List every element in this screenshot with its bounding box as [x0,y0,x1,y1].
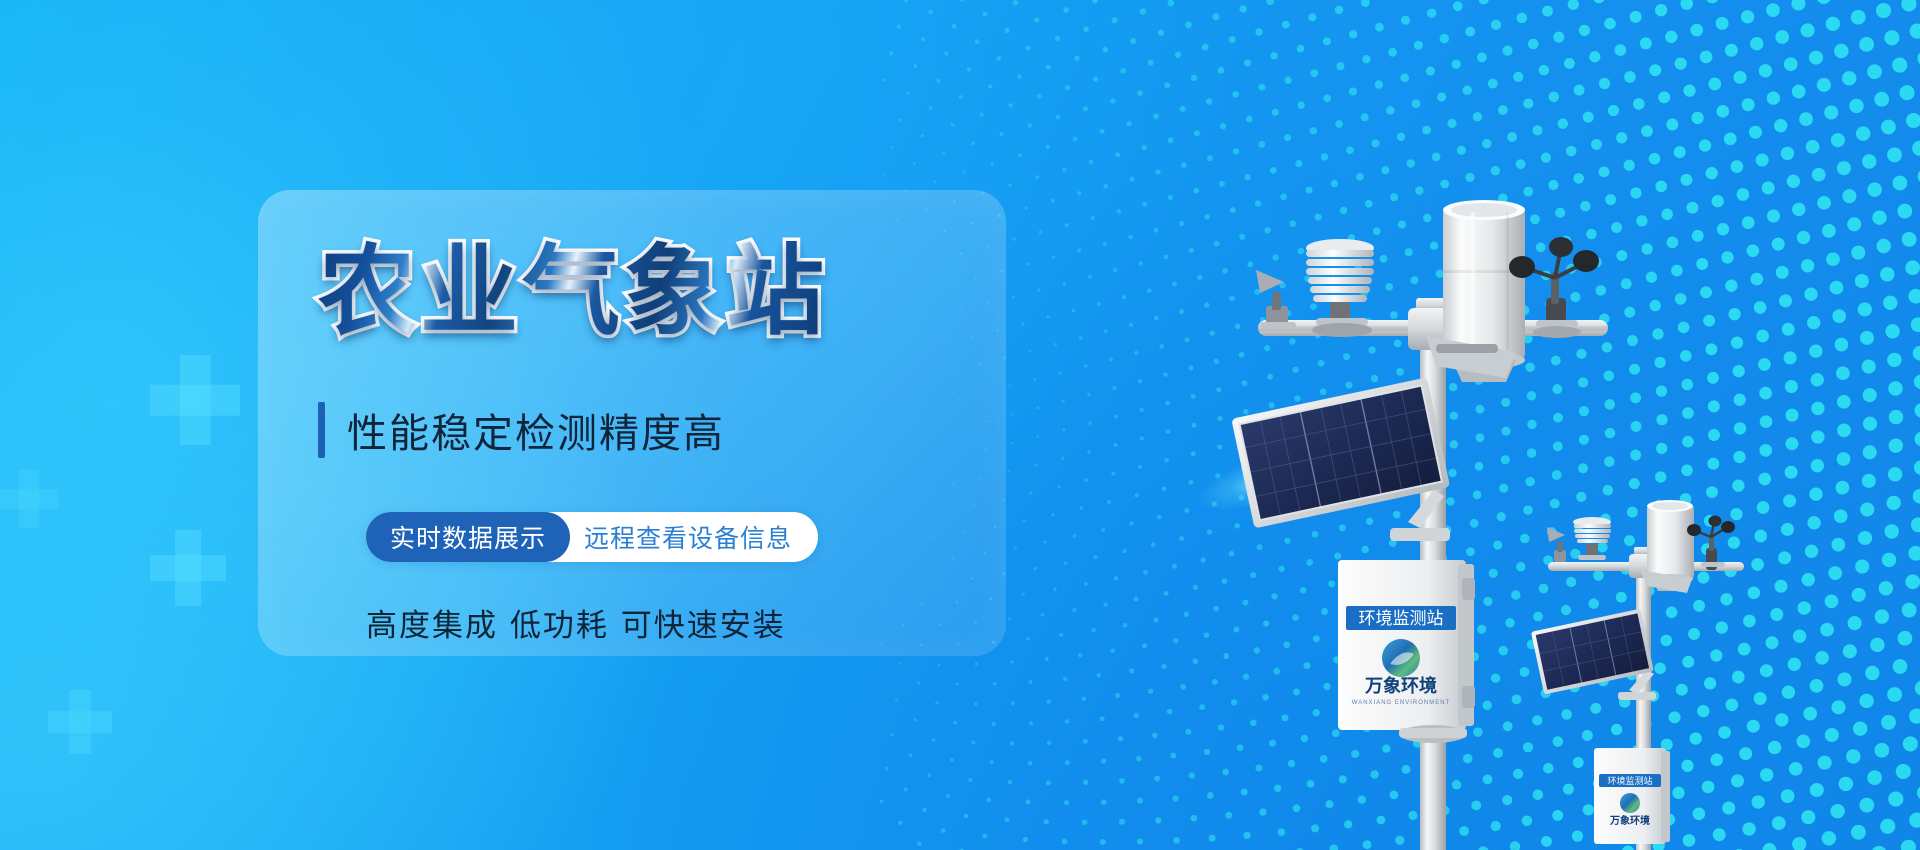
decor-plus-icon-3 [48,690,112,754]
cabinet-brand-text: 万象环境 [1364,675,1437,697]
solar-panel-small [1531,609,1656,700]
cabinet-banner-text-small: 环境监测站 [1607,775,1652,787]
anemometer-sensor-small [1687,516,1735,571]
control-cabinet-small: 环境监测站 万象环境 [1594,748,1670,844]
page-title-text: 农业气象站 [318,236,828,348]
page-title: 农业气象站 农业气象站 [318,236,958,356]
pill-realtime-data[interactable]: 实时数据展示 [366,512,570,562]
decor-plus-icon-4 [0,470,58,528]
hero-subtitle: 性能稳定检测精度高 [318,398,725,462]
wind-vane-sensor-left-small [1547,527,1566,562]
radiation-shield-sensor-small [1573,517,1611,560]
subtitle-accent-bar [318,402,325,458]
feature-list-text: 高度集成 低功耗 可快速安装 [366,600,786,645]
cabinet-brand-text-small: 万象环境 [1609,814,1650,827]
solar-panel [1231,377,1450,541]
decor-plus-icon-2 [150,530,226,606]
decor-plus-icon-1 [150,355,240,445]
hero-banner: 农业气象站 农业气象站 性能稳定检测精度高 实时数据展示 远程查看设备信息 高度… [0,0,1920,850]
radiation-shield-sensor [1306,239,1374,337]
control-cabinet: 环境监测站 万象环境 WANXIANG ENVIRONMENT [1338,560,1475,743]
cabinet-brand-sub: WANXIANG ENVIRONMENT [1352,700,1450,706]
feature-pill-group: 实时数据展示 远程查看设备信息 [366,512,818,562]
pill-remote-view[interactable]: 远程查看设备信息 [570,512,818,562]
cabinet-banner-text: 环境监测站 [1359,609,1444,629]
secondary-weather-station-image: 环境监测站 万象环境 [1530,480,1770,850]
subtitle-text: 性能稳定检测精度高 [347,401,725,459]
